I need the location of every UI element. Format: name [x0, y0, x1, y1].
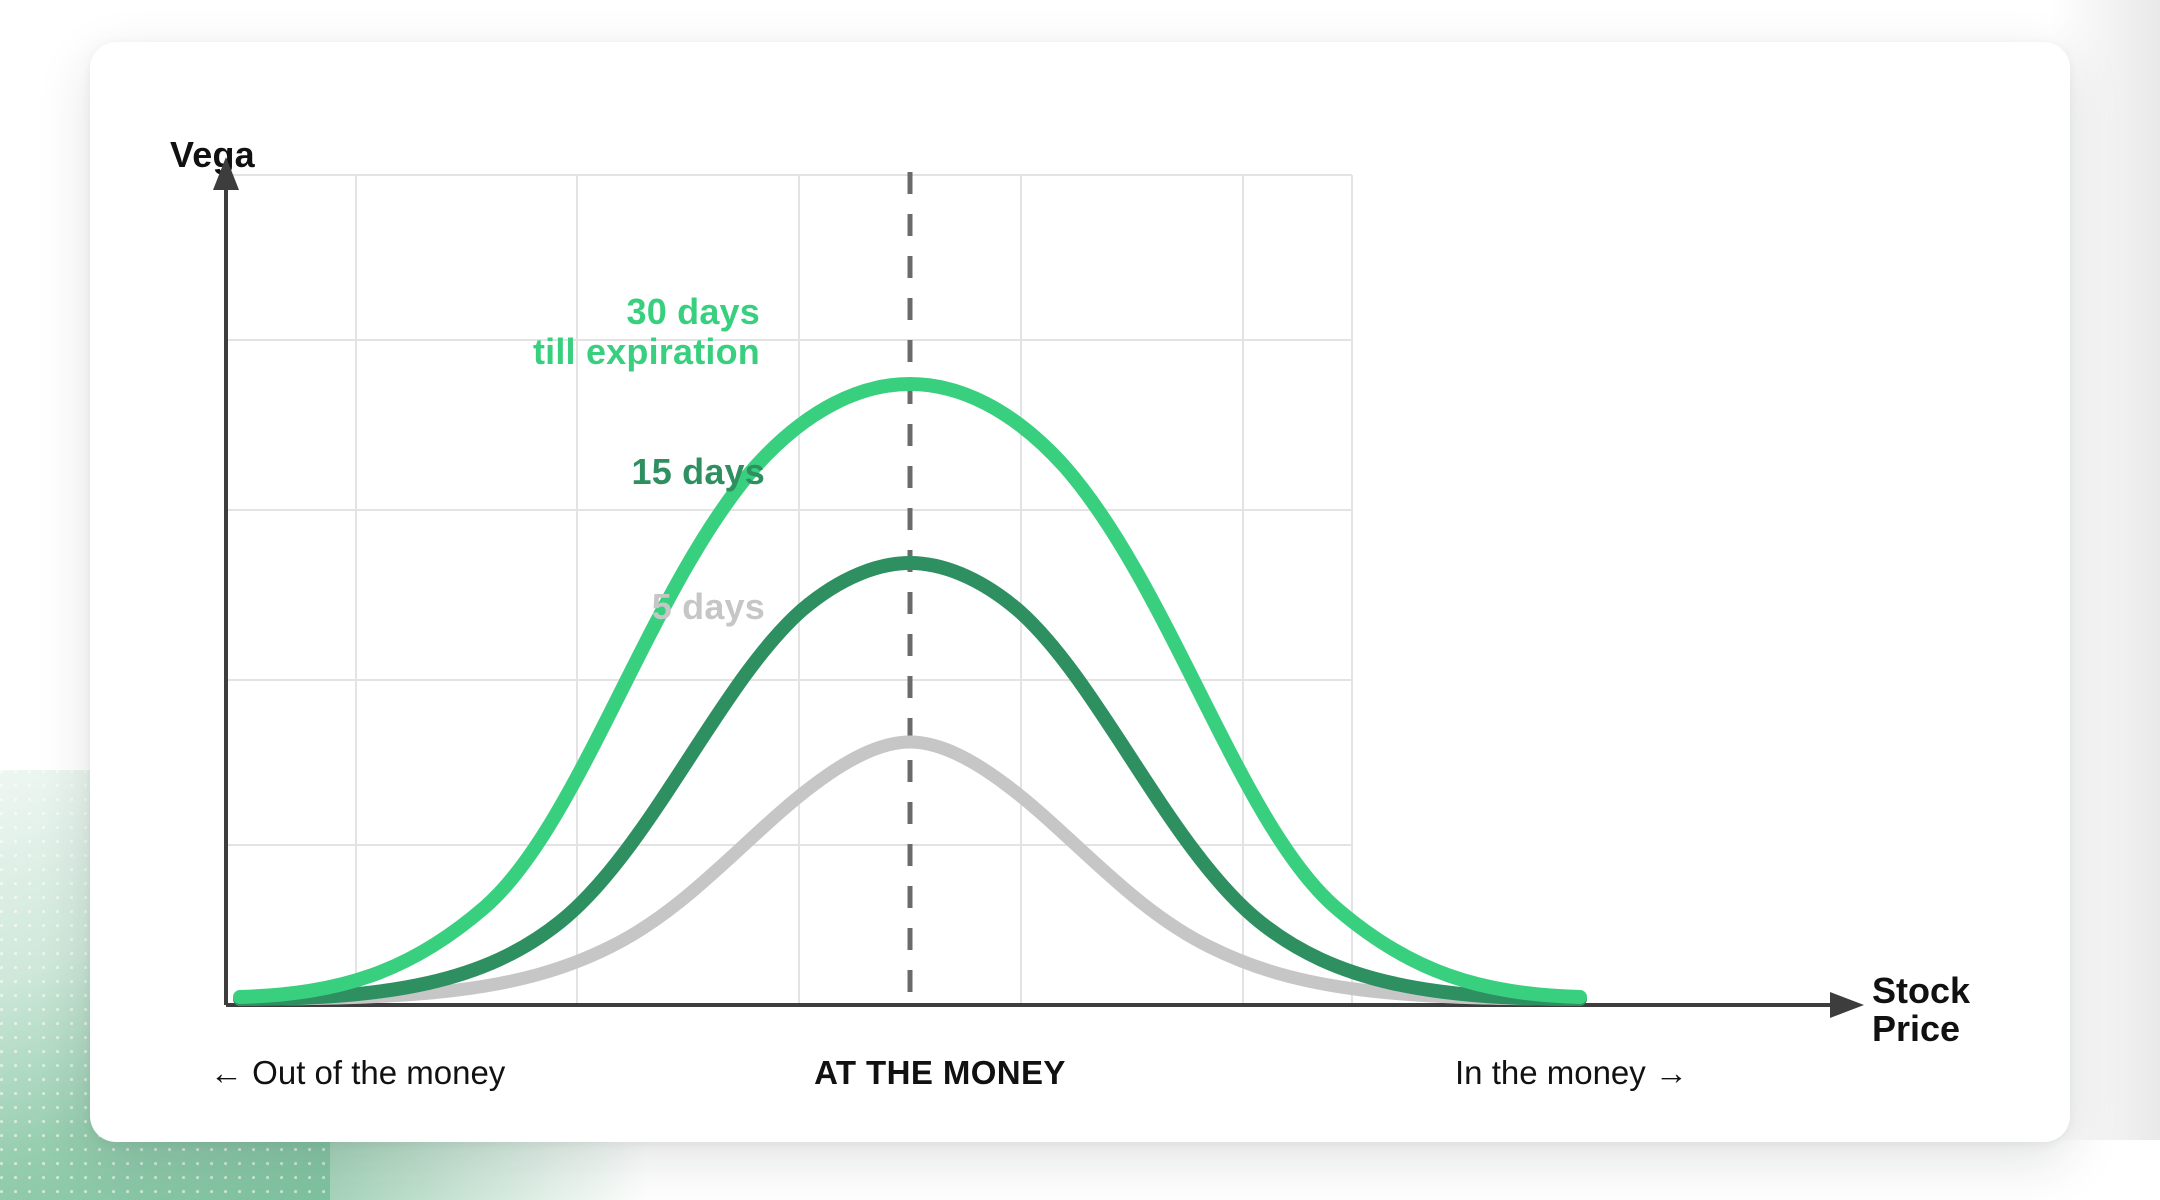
x-axis: [226, 992, 1864, 1018]
vega-curves-plot: [90, 42, 2070, 1142]
y-axis: [213, 157, 239, 1005]
series-label-30-days: 30 days till expiration: [510, 292, 760, 373]
page-root: Vega Stock Price: [0, 0, 2160, 1200]
series-label-5-days: 5 days: [620, 587, 765, 627]
chart-card: Vega Stock Price: [90, 42, 2070, 1142]
x-label-in-the-money: In the money →: [1455, 1054, 1688, 1092]
x-label-at-the-money: AT THE MONEY: [730, 1054, 1150, 1092]
series-label-15-days: 15 days: [590, 452, 765, 492]
grid-horizontal: [226, 175, 1352, 845]
x-label-out-of-the-money: ← Out of the money: [210, 1054, 505, 1092]
